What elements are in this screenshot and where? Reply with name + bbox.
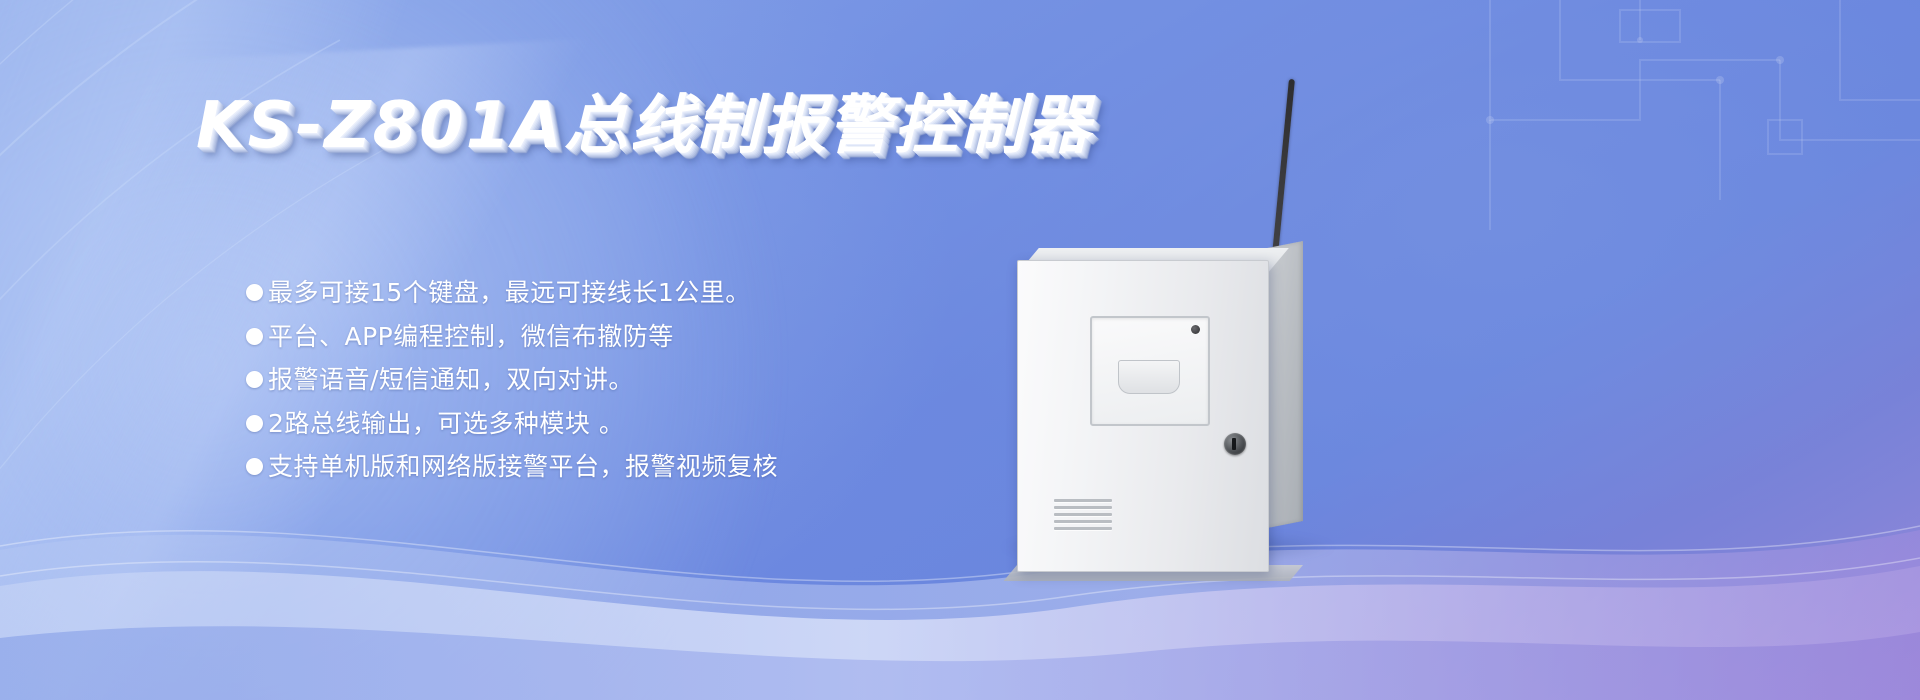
- enclosure-front-panel: [1017, 260, 1269, 572]
- filled-circle-bullet-icon: [246, 458, 263, 475]
- feature-text: 平台、APP编程控制，微信布撤防等: [268, 324, 674, 349]
- feature-item: 平台、APP编程控制，微信布撤防等: [246, 324, 778, 349]
- key-lock-icon: [1224, 433, 1246, 455]
- feature-item: 报警语音/短信通知，双向对讲。: [246, 367, 778, 392]
- feature-text: 支持单机版和网络版接警平台，报警视频复核: [268, 454, 778, 479]
- feature-item: 最多可接15个键盘，最远可接线长1公里。: [246, 280, 778, 305]
- product-banner: KS-Z801A总线制报警控制器 最多可接15个键盘，最远可接线长1公里。 平台…: [0, 0, 1920, 700]
- door-handle: [1118, 360, 1180, 394]
- feature-item: 2路总线输出，可选多种模块 。: [246, 411, 778, 436]
- vent-slot: [1054, 499, 1112, 502]
- status-led-icon: [1191, 325, 1200, 334]
- vent-slot: [1054, 513, 1112, 516]
- feature-text: 最多可接15个键盘，最远可接线长1公里。: [268, 280, 751, 305]
- feature-text: 报警语音/短信通知，双向对讲。: [268, 367, 634, 392]
- product-image: [955, 60, 1375, 580]
- filled-circle-bullet-icon: [246, 284, 263, 301]
- feature-text: 2路总线输出，可选多种模块 。: [268, 411, 624, 436]
- ventilation-slots: [1054, 499, 1112, 535]
- keypad-window: [1090, 316, 1210, 426]
- vent-slot: [1054, 506, 1112, 509]
- filled-circle-bullet-icon: [246, 415, 263, 432]
- feature-item: 支持单机版和网络版接警平台，报警视频复核: [246, 454, 778, 479]
- feature-list: 最多可接15个键盘，最远可接线长1公里。 平台、APP编程控制，微信布撤防等 报…: [246, 280, 778, 498]
- vent-slot: [1054, 527, 1112, 530]
- filled-circle-bullet-icon: [246, 328, 263, 345]
- filled-circle-bullet-icon: [246, 371, 263, 388]
- vent-slot: [1054, 520, 1112, 523]
